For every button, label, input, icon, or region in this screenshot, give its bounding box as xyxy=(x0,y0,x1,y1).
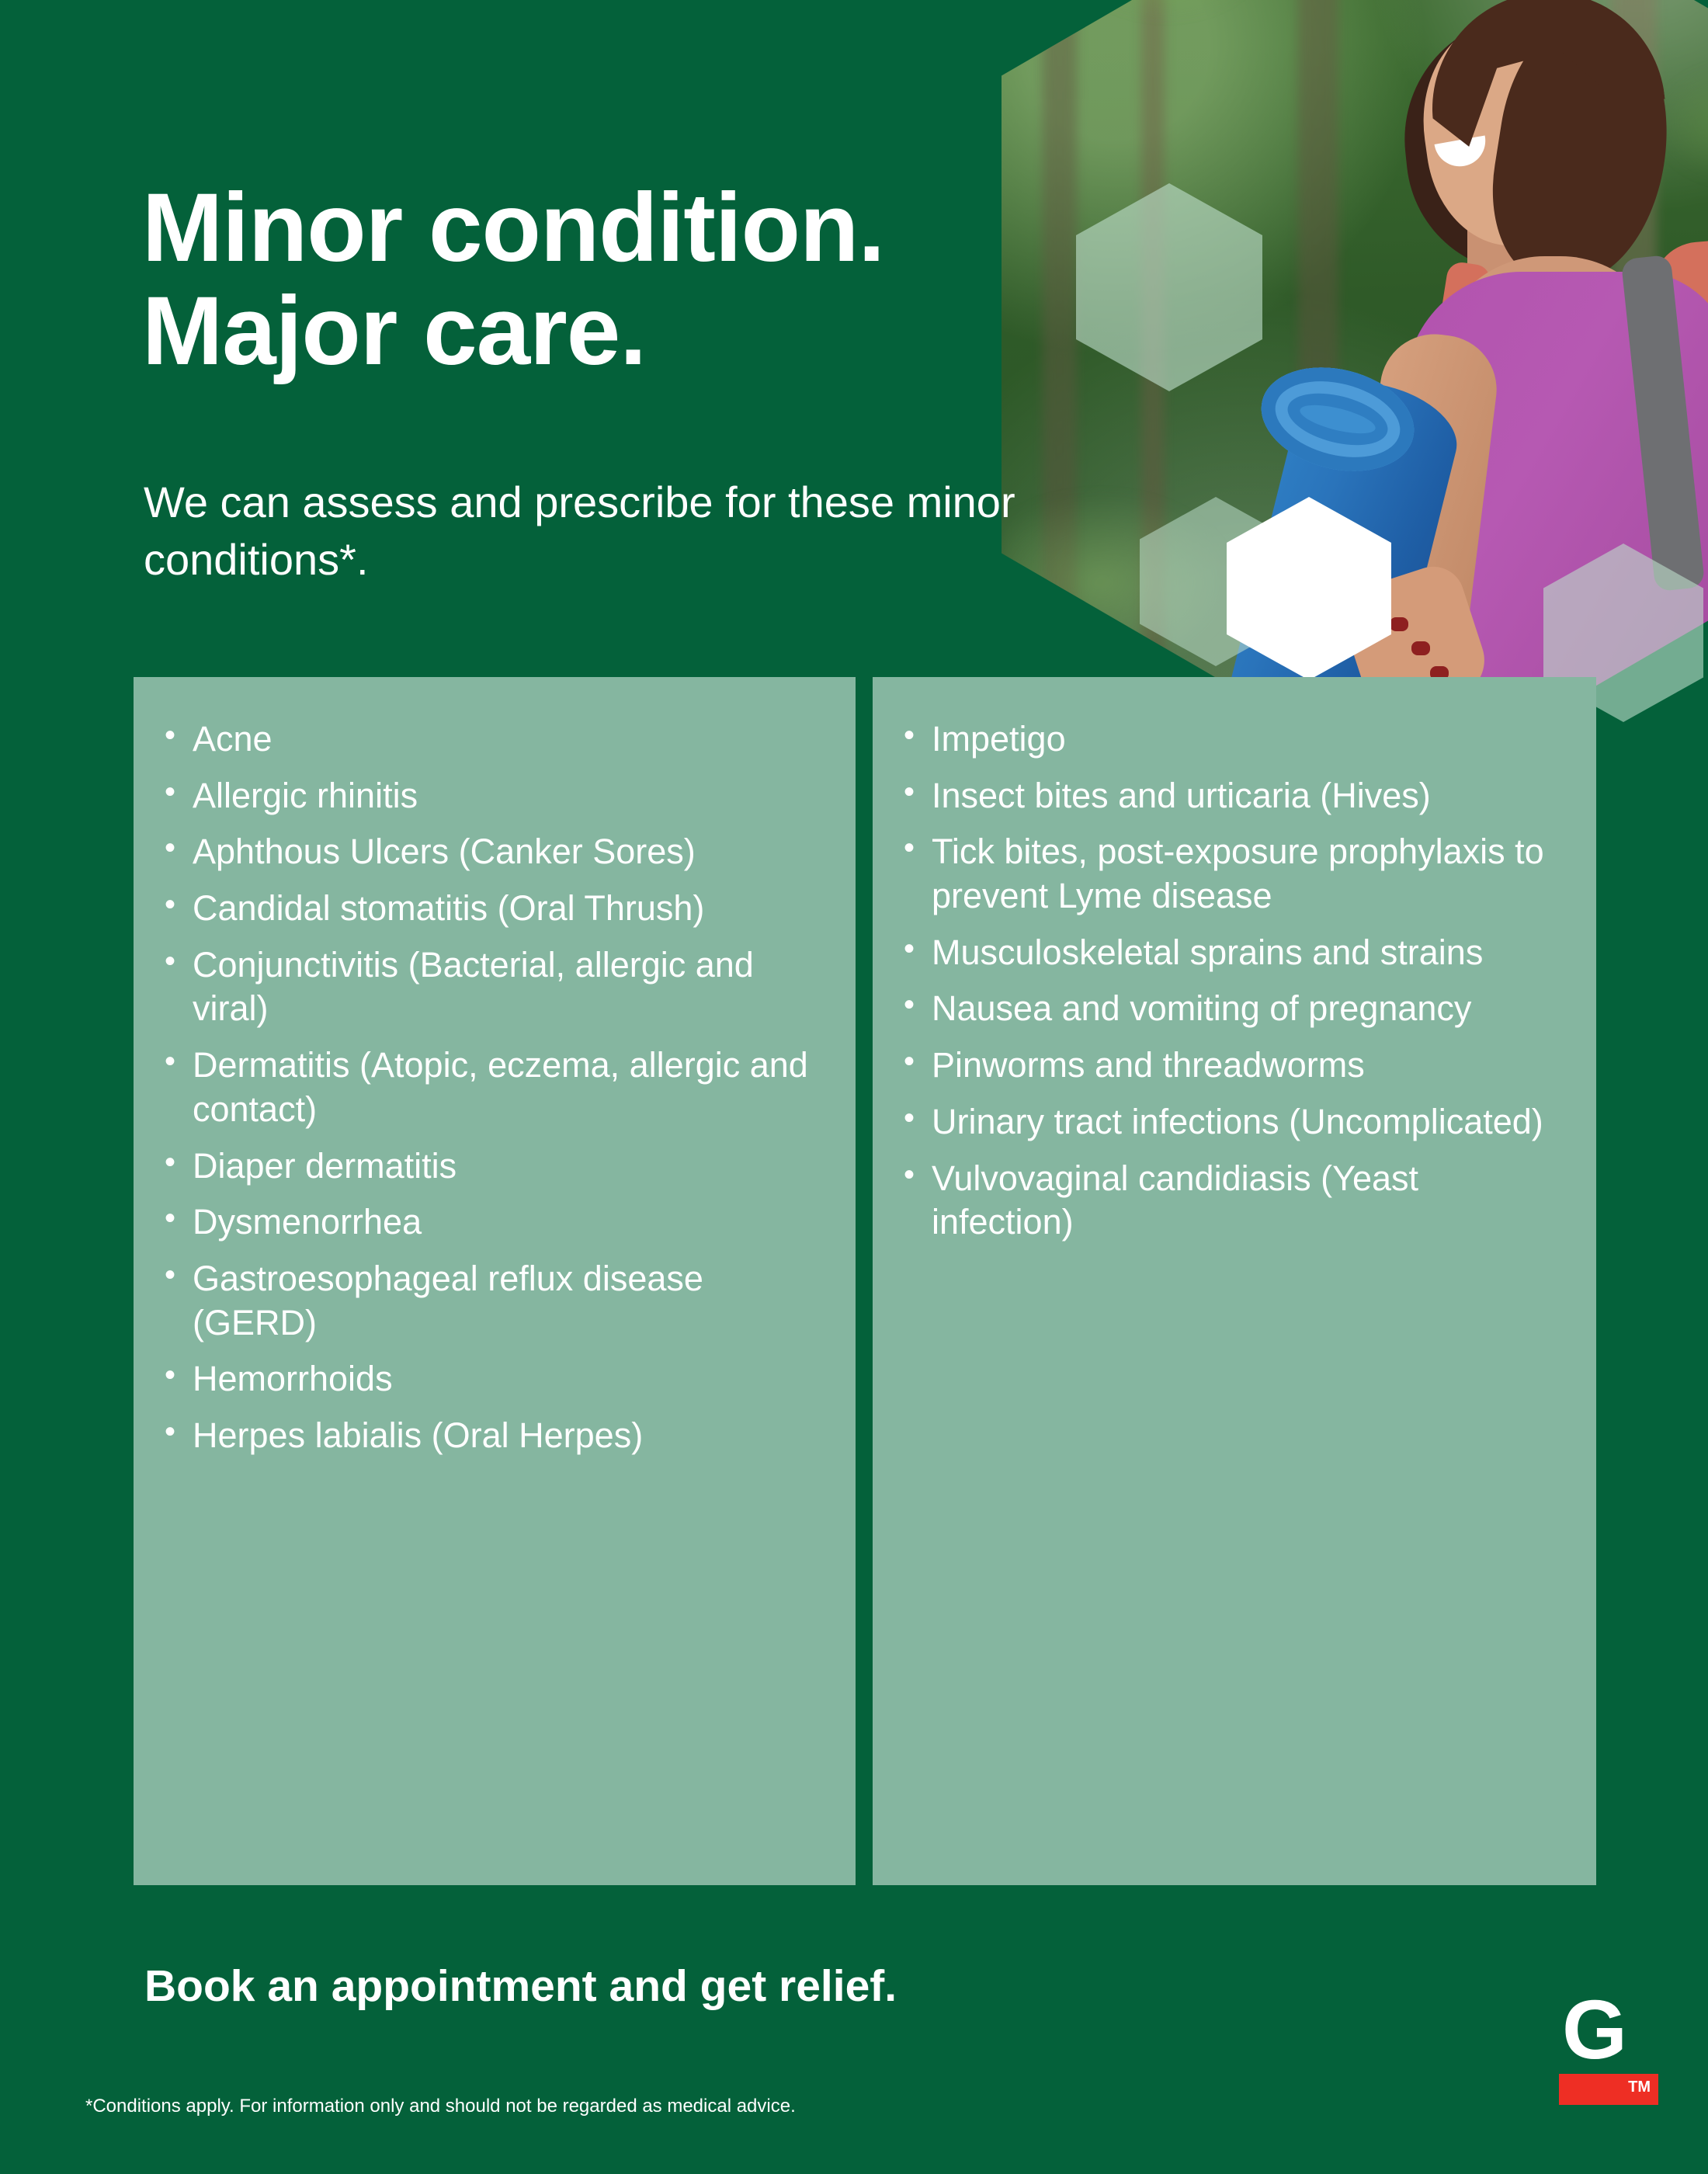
condition-list-item: Herpes labialis (Oral Herpes) xyxy=(160,1414,829,1458)
cta-text: Book an appointment and get relief. xyxy=(144,1960,897,2012)
subheadline: We can assess and prescribe for these mi… xyxy=(144,474,1060,589)
condition-list-item: Conjunctivitis (Bacterial, allergic and … xyxy=(160,943,829,1031)
condition-list-item: Aphthous Ulcers (Canker Sores) xyxy=(160,830,829,874)
condition-list-item: Musculoskeletal sprains and strains xyxy=(899,931,1570,975)
condition-list-item: Nausea and vomiting of pregnancy xyxy=(899,987,1570,1031)
headline-line-2: Major care. xyxy=(142,277,646,385)
logo-red-bar: TM xyxy=(1559,2074,1658,2105)
condition-list-item: Insect bites and urticaria (Hives) xyxy=(899,774,1570,818)
condition-list-item: Diaper dermatitis xyxy=(160,1144,829,1189)
conditions-list-left: AcneAllergic rhinitisAphthous Ulcers (Ca… xyxy=(160,717,829,1458)
condition-list-item: Acne xyxy=(160,717,829,762)
conditions-panel-right: ImpetigoInsect bites and urticaria (Hive… xyxy=(873,677,1596,1885)
condition-list-item: Pinworms and threadworms xyxy=(899,1044,1570,1088)
condition-list-item: Gastroesophageal reflux disease (GERD) xyxy=(160,1257,829,1345)
condition-list-item: Hemorrhoids xyxy=(160,1357,829,1401)
condition-list-item: Dermatitis (Atopic, eczema, allergic and… xyxy=(160,1044,829,1131)
logo-trademark-icon: TM xyxy=(1628,2079,1651,2095)
condition-list-item: Impetigo xyxy=(899,717,1570,762)
fine-print-disclaimer: *Conditions apply. For information only … xyxy=(85,2096,796,2117)
condition-list-item: Dysmenorrhea xyxy=(160,1200,829,1245)
page-title: Minor condition. Major care. xyxy=(142,177,884,383)
conditions-panels: AcneAllergic rhinitisAphthous Ulcers (Ca… xyxy=(134,677,1596,1885)
conditions-panel-left: AcneAllergic rhinitisAphthous Ulcers (Ca… xyxy=(134,677,856,1885)
fingernail xyxy=(1411,641,1430,655)
headline-line-1: Minor condition. xyxy=(142,174,884,282)
poster-root: Minor condition. Major care. We can asse… xyxy=(0,0,1708,2174)
condition-list-item: Candidal stomatitis (Oral Thrush) xyxy=(160,887,829,931)
condition-list-item: Allergic rhinitis xyxy=(160,774,829,818)
condition-list-item: Tick bites, post-exposure prophylaxis to… xyxy=(899,830,1570,918)
logo-letter-g: G xyxy=(1559,1994,1661,2066)
conditions-list-right: ImpetigoInsect bites and urticaria (Hive… xyxy=(899,717,1570,1245)
brand-logo: G TM xyxy=(1559,1994,1661,2105)
condition-list-item: Urinary tract infections (Uncomplicated) xyxy=(899,1100,1570,1144)
condition-list-item: Vulvovaginal candidiasis (Yeast infectio… xyxy=(899,1157,1570,1245)
fingernail xyxy=(1390,617,1408,631)
